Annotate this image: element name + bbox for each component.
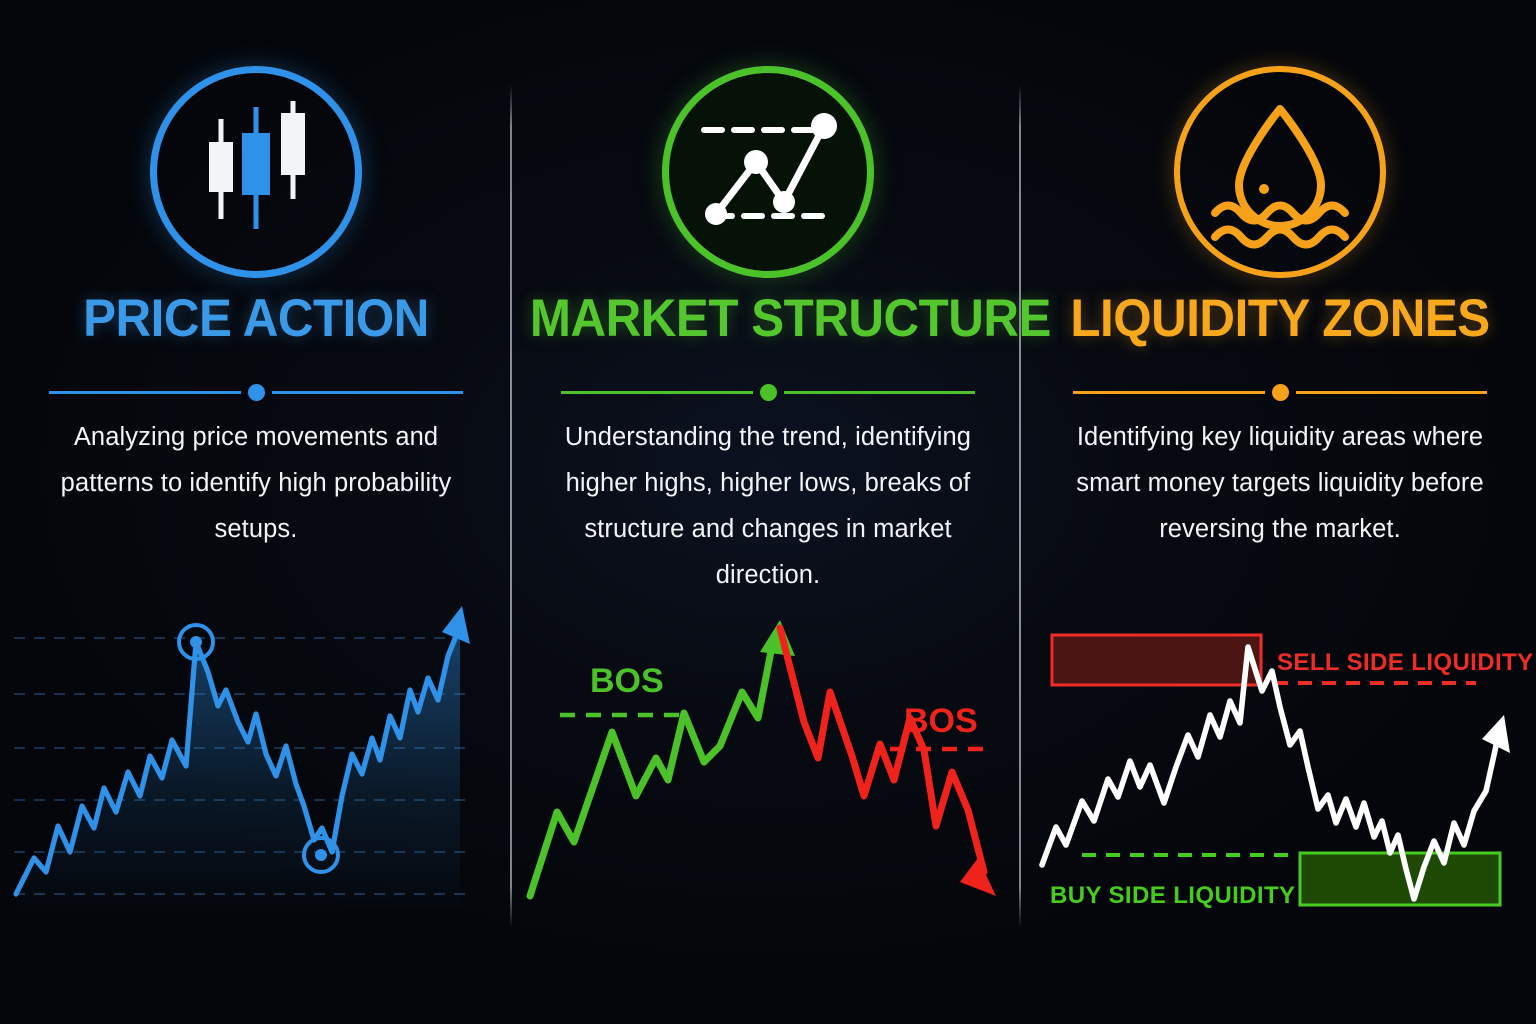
description-market-structure: Understanding the trend, identifying hig… [553, 414, 983, 598]
column-price-action: PRICE ACTION Analyzing price movements a… [0, 0, 512, 1024]
water-droplet-icon [1174, 66, 1386, 278]
rule-bar-left [561, 391, 753, 394]
bos-label-bearish: BOS [904, 702, 978, 740]
rule-bar-left [49, 391, 241, 394]
price-action-chart [0, 590, 512, 920]
rule-bar-right [1296, 391, 1488, 394]
rule-dot [248, 384, 265, 401]
buy-side-zone [1300, 853, 1500, 905]
candlestick-icon [150, 66, 362, 278]
rule-dot [1272, 384, 1289, 401]
buy-side-liquidity-label: BUY SIDE LIQUIDITY [1050, 882, 1295, 909]
column-liquidity-zones: LIQUIDITY ZONES Identifying key liquidit… [1024, 0, 1536, 1024]
columns-container: PRICE ACTION Analyzing price movements a… [0, 0, 1536, 1024]
page-title-market-structure: MARKET STRUCTURE [530, 292, 1006, 345]
description-price-action: Analyzing price movements and patterns t… [56, 414, 456, 552]
column-divider-1 [510, 85, 512, 928]
sell-side-zone [1052, 635, 1261, 685]
page-title-price-action: PRICE ACTION [18, 292, 494, 345]
column-market-structure: MARKET STRUCTURE Understanding the trend… [512, 0, 1024, 1024]
divider-rule-liquidity-zones [1073, 386, 1487, 398]
bos-label-bullish: BOS [590, 662, 664, 700]
rule-dot [760, 384, 777, 401]
divider-rule-market-structure [561, 386, 975, 398]
page-title-liquidity-zones: LIQUIDITY ZONES [1042, 292, 1518, 345]
description-liquidity-zones: Identifying key liquidity areas where sm… [1065, 414, 1495, 552]
trend-zigzag-icon [662, 66, 874, 278]
rule-bar-right [784, 391, 976, 394]
column-divider-2 [1019, 85, 1021, 928]
rule-bar-left [1073, 391, 1265, 394]
divider-rule-price-action [49, 386, 463, 398]
market-structure-chart: BOS BOS [512, 600, 1024, 930]
liquidity-zones-chart: SELL SIDE LIQUIDITY BUY SIDE LIQUIDITY [1024, 615, 1536, 935]
rule-bar-right [272, 391, 464, 394]
infographic-stage: PRICE ACTION Analyzing price movements a… [0, 0, 1536, 1024]
sell-side-liquidity-label: SELL SIDE LIQUIDITY [1277, 649, 1534, 676]
